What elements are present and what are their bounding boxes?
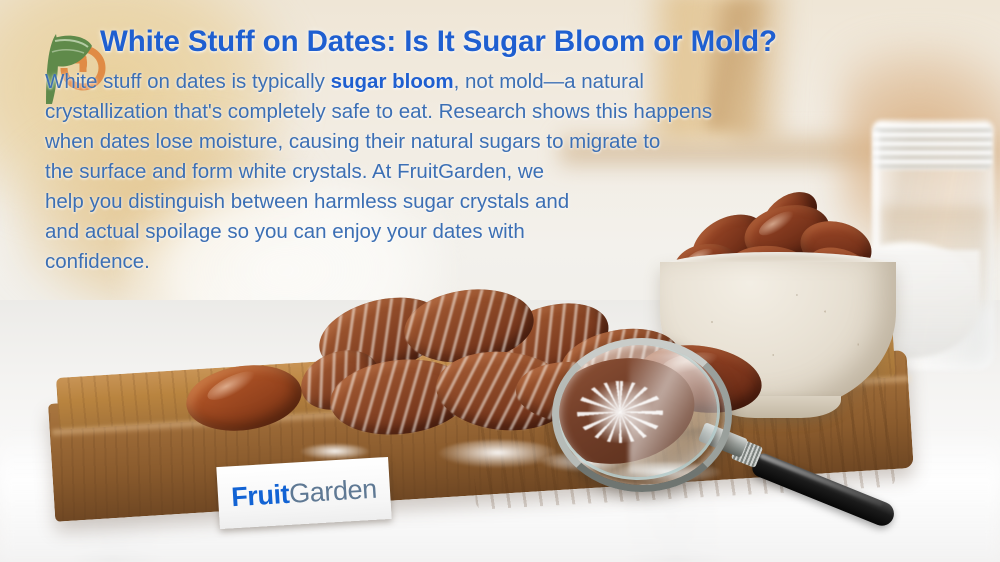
brand-wordmark: FruitGarden (230, 473, 377, 513)
body-line: crystallization that's completely safe t… (45, 97, 875, 127)
brand-name-light: Garden (288, 473, 377, 508)
body-line: help you distinguish between harmless su… (45, 187, 875, 217)
body-paragraph: White stuff on dates is typically sugar … (45, 67, 875, 277)
body-line-post: , not mold—a natural (454, 70, 644, 93)
body-line: White stuff on dates is typically sugar … (45, 67, 875, 97)
page-title: White Stuff on Dates: Is It Sugar Bloom … (100, 25, 970, 59)
body-line: and actual spoilage so you can enjoy you… (45, 217, 875, 247)
brand-label: FruitGarden (216, 457, 391, 529)
text-overlay: White Stuff on Dates: Is It Sugar Bloom … (0, 0, 1000, 562)
body-line: the surface and form white crystals. At … (45, 157, 875, 187)
brand-name-bold: Fruit (230, 478, 290, 511)
body-line: confidence. (45, 247, 875, 277)
body-line: when dates lose moisture, causing their … (45, 127, 875, 157)
body-line-pre: White stuff on dates is typically (45, 70, 331, 93)
emphasis-sugar-bloom: sugar bloom (331, 70, 454, 93)
infographic-banner: White Stuff on Dates: Is It Sugar Bloom … (0, 0, 1000, 562)
